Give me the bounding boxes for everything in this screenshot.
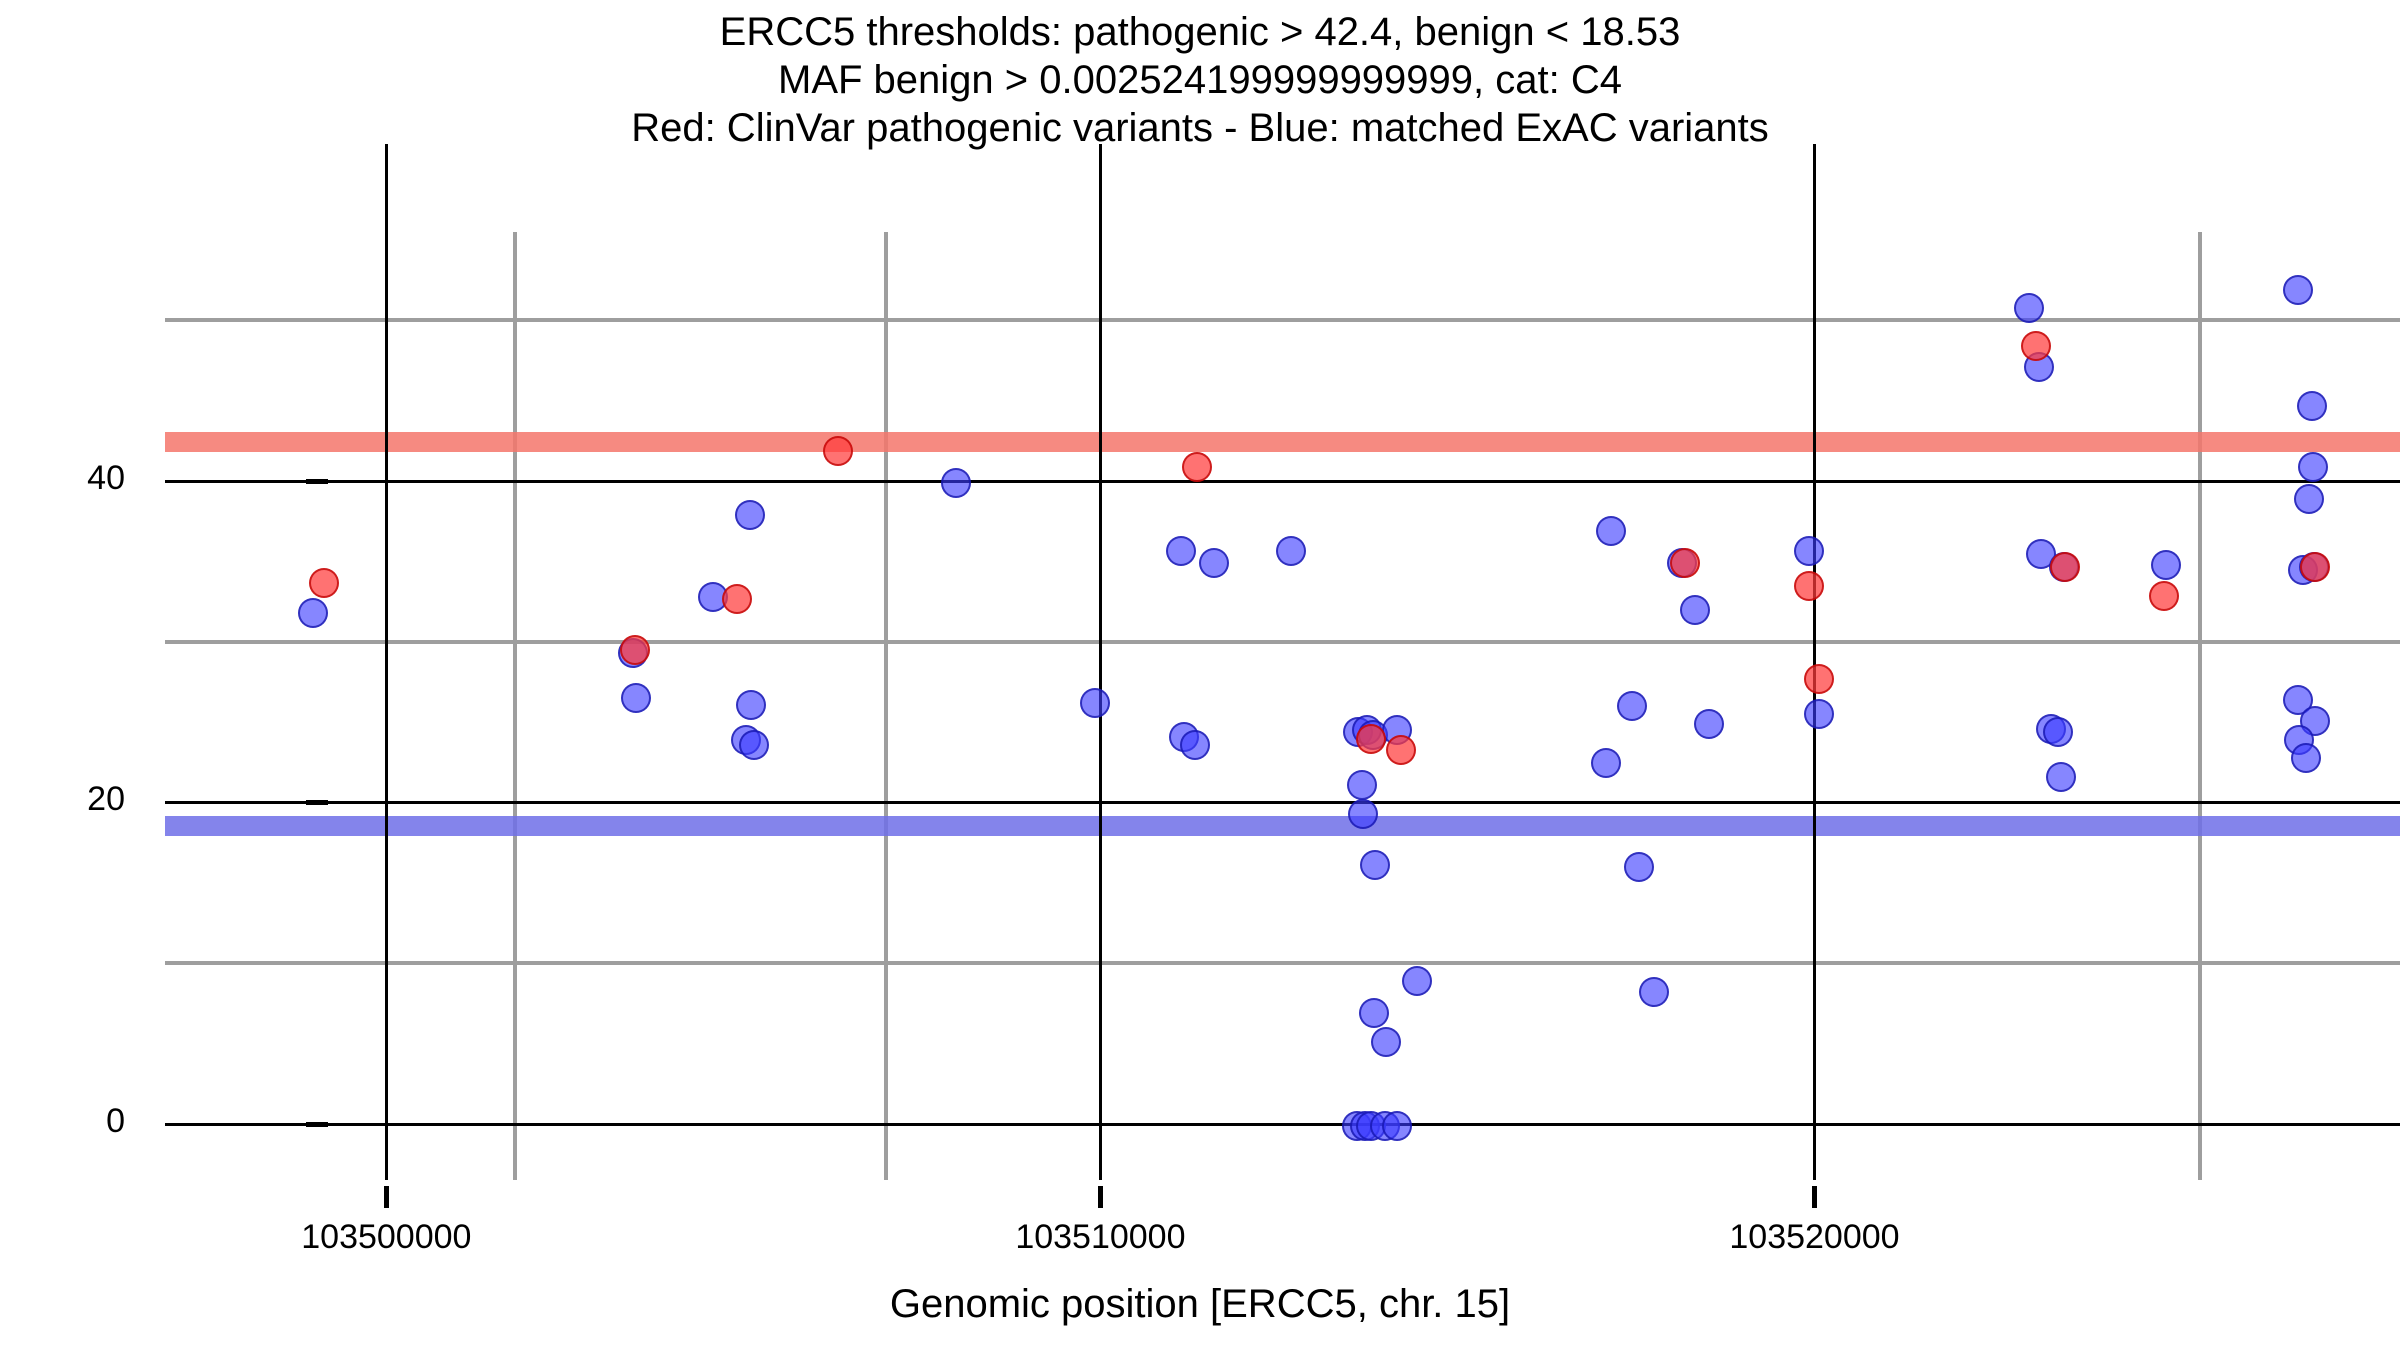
data-point-benign [1617, 691, 1647, 721]
data-point-benign [1180, 730, 1210, 760]
y-tick-20 [306, 800, 328, 805]
axis-line-y-0 [165, 1123, 2400, 1126]
data-point-benign [1804, 699, 1834, 729]
gridline-vertical [2198, 232, 2202, 1180]
y-tick-label-20: 20 [5, 780, 125, 819]
data-point-benign [1596, 516, 1626, 546]
data-point-benign [1382, 1111, 1412, 1141]
data-point-pathogenic [309, 568, 339, 598]
data-point-benign [1591, 748, 1621, 778]
plot-panel [165, 232, 2400, 1180]
data-point-benign [2043, 717, 2073, 747]
data-point-pathogenic [1182, 452, 1212, 482]
data-point-benign [1276, 536, 1306, 566]
data-point-pathogenic [2021, 331, 2051, 361]
threshold-band-pathogenic [165, 432, 2400, 452]
axis-line-x-103500000 [385, 144, 388, 1180]
data-point-pathogenic [2050, 552, 2080, 582]
data-point-benign [298, 598, 328, 628]
y-tick-label-40: 40 [5, 459, 125, 498]
data-point-pathogenic [722, 584, 752, 614]
x-tick-label-103510000: 103510000 [940, 1218, 1260, 1257]
axis-line-x-103520000 [1813, 144, 1816, 1180]
y-tick-40 [306, 479, 328, 484]
axis-line-x-103510000 [1099, 144, 1102, 1180]
data-point-benign [2151, 550, 2181, 580]
data-point-benign [1359, 998, 1389, 1028]
data-point-benign [621, 683, 651, 713]
data-point-benign [941, 468, 971, 498]
gridline-vertical [884, 232, 888, 1180]
threshold-band-benign [165, 816, 2400, 836]
data-point-benign [1624, 852, 1654, 882]
data-point-benign [739, 730, 769, 760]
data-point-benign [1166, 536, 1196, 566]
x-tick-label-103500000: 103500000 [226, 1218, 546, 1257]
axis-line-y-40 [165, 480, 2400, 483]
plot-area [0, 0, 2400, 1350]
x-axis-label: Genomic position [ERCC5, chr. 15] [0, 1282, 2400, 1327]
x-tick-103500000 [384, 1186, 389, 1208]
axis-line-y-20 [165, 801, 2400, 804]
data-point-benign [1371, 1027, 1401, 1057]
data-point-pathogenic [2149, 581, 2179, 611]
data-point-benign [736, 690, 766, 720]
data-point-benign [2294, 484, 2324, 514]
data-point-benign [2298, 452, 2328, 482]
data-point-benign [735, 500, 765, 530]
data-point-benign [1694, 709, 1724, 739]
y-tick-label-0: 0 [5, 1102, 125, 1141]
data-point-pathogenic [1794, 571, 1824, 601]
data-point-benign [2291, 743, 2321, 773]
data-point-pathogenic [1356, 724, 1386, 754]
data-point-pathogenic [823, 436, 853, 466]
data-point-benign [1680, 595, 1710, 625]
data-point-benign [1348, 799, 1378, 829]
x-tick-103510000 [1098, 1186, 1103, 1208]
x-tick-103520000 [1812, 1186, 1817, 1208]
gridline-horizontal [165, 318, 2400, 322]
data-point-benign [1360, 850, 1390, 880]
data-point-benign [2014, 293, 2044, 323]
data-point-benign [1794, 536, 1824, 566]
gridline-vertical [513, 232, 517, 1180]
data-point-benign [1199, 548, 1229, 578]
data-point-pathogenic [2300, 552, 2330, 582]
data-point-benign [1080, 688, 1110, 718]
data-point-benign [2046, 762, 2076, 792]
chart-root: ERCC5 thresholds: pathogenic > 42.4, ben… [0, 0, 2400, 1350]
data-point-pathogenic [1386, 735, 1416, 765]
x-tick-label-103520000: 103520000 [1654, 1218, 1974, 1257]
y-tick-0 [306, 1122, 328, 1127]
data-point-benign [1639, 977, 1669, 1007]
data-point-pathogenic [620, 635, 650, 665]
data-point-benign [1347, 770, 1377, 800]
data-point-pathogenic [1804, 664, 1834, 694]
gridline-horizontal [165, 961, 2400, 965]
data-point-benign [1402, 966, 1432, 996]
data-point-pathogenic [1670, 548, 1700, 578]
data-point-benign [2283, 275, 2313, 305]
gridline-horizontal [165, 640, 2400, 644]
data-point-benign [2297, 391, 2327, 421]
